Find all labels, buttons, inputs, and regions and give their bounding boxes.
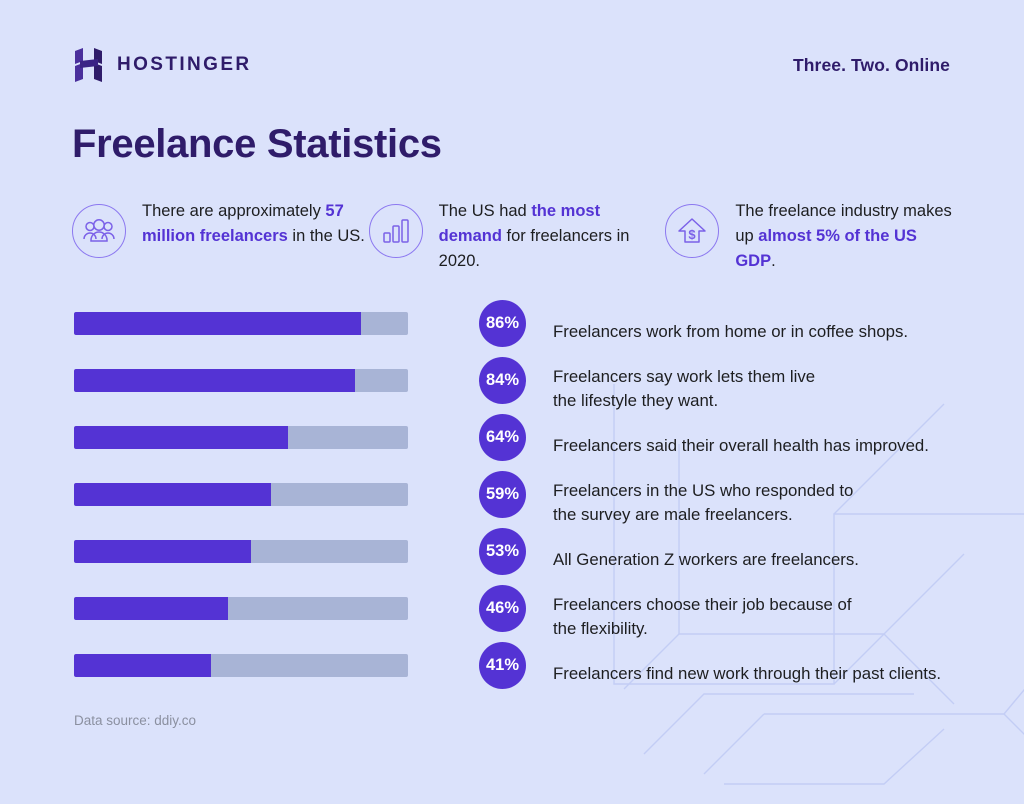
bar-label: Freelancers work from home or in coffee … [553,320,908,344]
people-group-icon [72,204,126,258]
bar-chart-icon [369,204,423,258]
bar-row: 64%Freelancers said their overall health… [74,417,974,474]
bar-fill [74,369,355,392]
stat-card-text: The US had the most demand for freelance… [439,196,664,274]
stat-text-pre: The US had [439,202,532,220]
bar-value-badge: 64% [479,414,526,461]
bar-track [74,483,408,506]
bar-value-badge: 46% [479,585,526,632]
stat-card-text: The freelance industry makes up almost 5… [735,196,960,274]
infographic-page: HOSTINGER Three. Two. Online Freelance S… [0,0,1024,764]
bar-row: 86%Freelancers work from home or in coff… [74,303,974,360]
bar-label: Freelancers said their overall health ha… [553,434,929,458]
bar-row: 84%Freelancers say work lets them live t… [74,360,974,417]
bar-row: 53%All Generation Z workers are freelanc… [74,531,974,588]
bar-label: Freelancers find new work through their … [553,662,941,686]
bar-fill [74,312,361,335]
stat-text-post: . [771,252,776,270]
bar-row: 41%Freelancers find new work through the… [74,645,974,702]
bar-track [74,654,408,677]
hostinger-h-mark-icon [74,48,104,82]
tagline: Three. Two. Online [793,55,950,76]
stat-text-pre: There are approximately [142,202,325,220]
stat-cards: There are approximately 57 million freel… [72,196,962,274]
header: HOSTINGER Three. Two. Online [74,45,950,85]
bar-row: 59%Freelancers in the US who responded t… [74,474,974,531]
bar-fill [74,654,211,677]
bar-value-badge: 53% [479,528,526,575]
stat-text-highlight: almost 5% of the US GDP [735,227,917,270]
stat-card-freelancer-count: There are approximately 57 million freel… [72,196,369,274]
stat-card-text: There are approximately 57 million freel… [142,196,367,249]
bar-label: Freelancers choose their job because of … [553,593,852,641]
page-title: Freelance Statistics [72,122,442,167]
bar-track [74,540,408,563]
stat-card-gdp-share: $ The freelance industry makes up almost… [665,196,962,274]
bar-row: 46%Freelancers choose their job because … [74,588,974,645]
hostinger-logo: HOSTINGER [74,48,252,82]
bar-label: All Generation Z workers are freelancers… [553,548,859,572]
bar-chart: 86%Freelancers work from home or in coff… [74,303,974,702]
bar-track [74,312,408,335]
bar-label: Freelancers in the US who responded to t… [553,479,853,527]
stat-text-post: in the US. [288,227,365,245]
bar-fill [74,540,251,563]
bar-value-badge: 84% [479,357,526,404]
bar-value-badge: 86% [479,300,526,347]
bar-track [74,426,408,449]
stat-card-us-demand: The US had the most demand for freelance… [369,196,666,274]
bar-track [74,597,408,620]
bar-track [74,369,408,392]
bar-fill [74,483,271,506]
svg-text:$: $ [689,227,697,242]
bar-fill [74,597,228,620]
dollar-arrow-up-icon: $ [665,204,719,258]
logo-wordmark: HOSTINGER [117,54,252,76]
data-source-note: Data source: ddiy.co [74,713,196,728]
bar-fill [74,426,288,449]
bar-label: Freelancers say work lets them live the … [553,365,815,413]
bar-value-badge: 59% [479,471,526,518]
bar-value-badge: 41% [479,642,526,689]
